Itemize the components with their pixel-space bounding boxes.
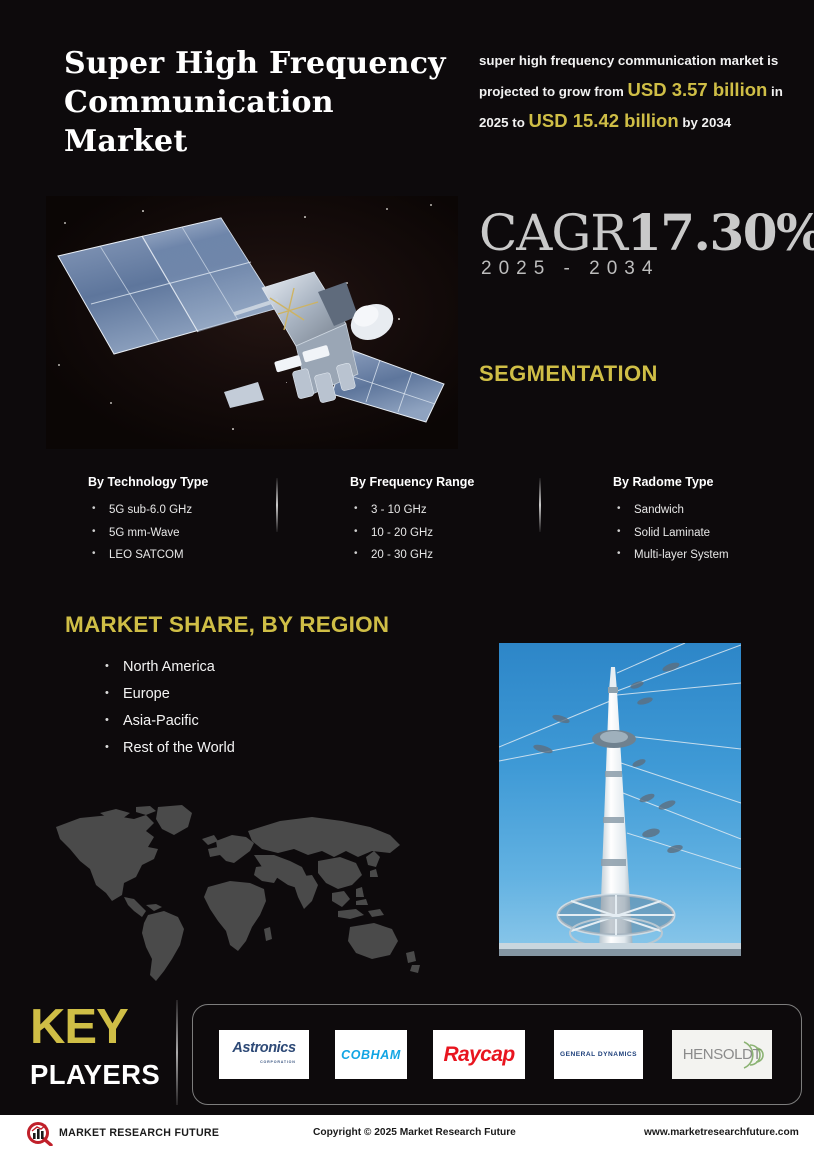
segment-title: By Technology Type	[88, 475, 208, 489]
cagr-year-range: 2025 - 2034	[481, 258, 659, 280]
footer-brand: MARKET RESEARCH FUTURE	[59, 1127, 219, 1139]
key-players-divider	[176, 1000, 178, 1105]
cagr-value: 17.30%	[627, 203, 814, 262]
segment-divider-2	[539, 478, 541, 532]
segment-divider-1	[276, 478, 278, 532]
market-share-heading: MARKET SHARE, BY REGION	[65, 612, 389, 638]
key-players-label-bottom: PLAYERS	[30, 1061, 160, 1089]
segmentation-column-technology: By Technology Type 5G sub-6.0 GHz 5G mm-…	[88, 475, 208, 567]
segment-item: LEO SATCOM	[88, 544, 208, 567]
satellite-graphic	[46, 196, 458, 449]
logo-astronics-sub: CORPORATION	[232, 1055, 295, 1069]
page-title: Super High Frequency Communication Marke…	[64, 44, 454, 161]
list-item: Asia-Pacific	[103, 708, 235, 735]
footer-url[interactable]: www.marketresearchfuture.com	[644, 1127, 799, 1138]
blurb-part3: by 2034	[679, 115, 732, 130]
logo-raycap[interactable]: Raycap	[433, 1030, 525, 1079]
segment-title: By Radome Type	[613, 475, 729, 489]
market-share-region-list: North America Europe Asia-Pacific Rest o…	[103, 654, 235, 762]
logo-general-dynamics-text: GENERAL DYNAMICS	[560, 1051, 637, 1058]
blurb-value-2034: USD 15.42 billion	[529, 110, 679, 131]
logo-cobham-text: COBHAM	[341, 1048, 401, 1062]
segmentation-heading: SEGMENTATION	[479, 361, 658, 387]
segment-item: Solid Laminate	[613, 522, 729, 545]
logo-general-dynamics[interactable]: GENERAL DYNAMICS	[554, 1030, 643, 1079]
segmentation-column-radome: By Radome Type Sandwich Solid Laminate M…	[613, 475, 729, 567]
segment-title: By Frequency Range	[350, 475, 474, 489]
segment-item: Sandwich	[613, 499, 729, 522]
segment-item: Multi-layer System	[613, 544, 729, 567]
tower-image	[499, 643, 741, 956]
segment-item: 20 - 30 GHz	[350, 544, 474, 567]
market-summary-text: super high frequency communication marke…	[479, 46, 797, 137]
list-item: North America	[103, 654, 235, 681]
cagr-label: CAGR	[479, 204, 627, 262]
list-item: Rest of the World	[103, 735, 235, 762]
logo-astronics[interactable]: Astronics CORPORATION	[219, 1030, 309, 1079]
logo-hensoldt[interactable]: HENSOLDT	[672, 1030, 772, 1079]
segment-item: 5G sub-6.0 GHz	[88, 499, 208, 522]
segment-item: 3 - 10 GHz	[350, 499, 474, 522]
logo-raycap-text: Raycap	[443, 1043, 514, 1067]
segmentation-column-frequency: By Frequency Range 3 - 10 GHz 10 - 20 GH…	[350, 475, 474, 567]
key-players-label-top: KEY	[30, 1003, 128, 1051]
segment-item: 10 - 20 GHz	[350, 522, 474, 545]
cagr-display: CAGR17.30%	[479, 203, 814, 262]
footer-copyright: Copyright © 2025 Market Research Future	[313, 1127, 516, 1138]
list-item: Europe	[103, 681, 235, 708]
world-map-graphic	[50, 805, 430, 985]
logo-astronics-text: Astronics	[232, 1040, 295, 1056]
infographic-page: Super High Frequency Communication Marke…	[0, 0, 814, 1150]
world-map	[50, 805, 430, 985]
hensoldt-arcs-icon	[740, 1038, 766, 1072]
market-research-future-logo-icon	[25, 1122, 55, 1146]
blurb-value-2025: USD 3.57 billion	[628, 79, 768, 100]
tower-graphic	[499, 643, 741, 956]
segment-item: 5G mm-Wave	[88, 522, 208, 545]
satellite-image	[46, 196, 458, 449]
logo-cobham[interactable]: COBHAM	[335, 1030, 407, 1079]
